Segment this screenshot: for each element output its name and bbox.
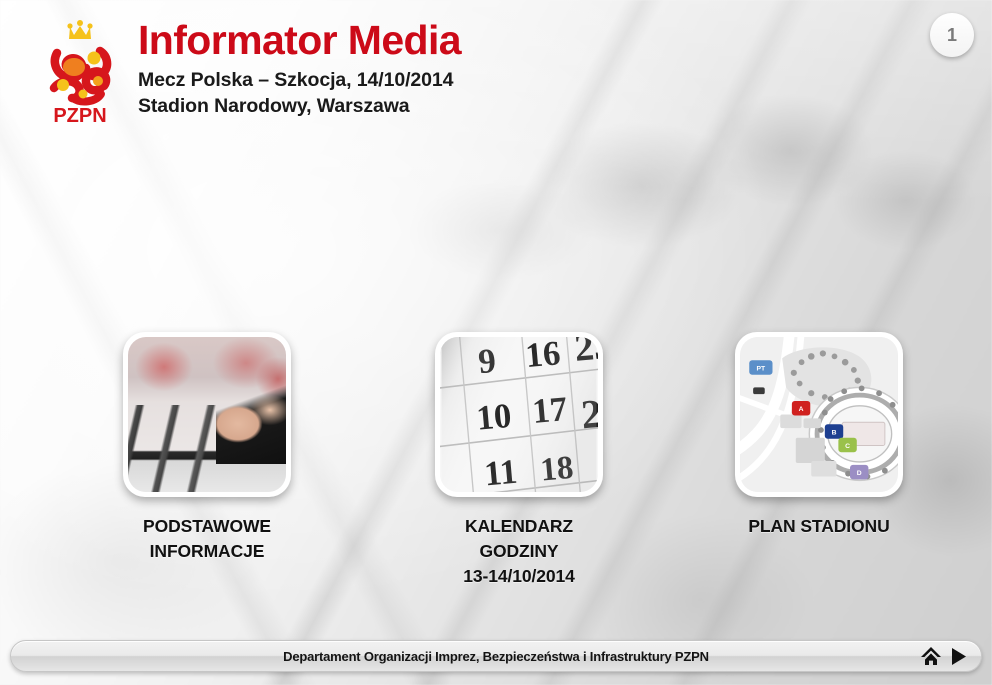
footer-bar: Departament Organizacji Imprez, Bezpiecz… <box>10 640 982 672</box>
svg-text:D: D <box>857 470 862 477</box>
tile-label-line1: PODSTAWOWE <box>118 514 296 539</box>
page-title: Informator Media <box>138 18 461 62</box>
page-number-badge: 1 <box>930 13 974 57</box>
press-journalists-laptops-thumbnail <box>128 337 286 492</box>
pzpn-eagle-logo-icon: PZPN <box>26 14 134 126</box>
tile-plan-stadionu[interactable]: PT A B C <box>730 332 908 539</box>
map-marker-d: D <box>850 465 868 480</box>
svg-text:PZPN: PZPN <box>53 105 106 126</box>
title-block: Informator Media Mecz Polska – Szkocja, … <box>138 18 461 120</box>
pzpn-logo: PZPN <box>26 14 134 126</box>
tile-label-line1: KALENDARZ <box>430 514 608 539</box>
footer-text: Departament Organizacji Imprez, Bezpiecz… <box>283 649 709 664</box>
stadium-map-icon: PT A B C <box>740 337 898 492</box>
tile-podstawowe-informacje[interactable]: PODSTAWOWE INFORMACJE <box>118 332 296 564</box>
tile-frame: 9 16 23 10 17 24 11 18 <box>435 332 603 497</box>
presentation-slide: PZPN Informator Media Mecz Polska – Szko… <box>0 0 992 685</box>
stadium-plan-thumbnail: PT A B C <box>740 337 898 492</box>
subtitle-match: Mecz Polska – Szkocja, 14/10/2014 <box>138 68 461 94</box>
tile-label: KALENDARZ GODZINY 13-14/10/2014 <box>430 514 608 589</box>
home-icon[interactable] <box>920 646 942 666</box>
map-marker-b: B <box>825 424 843 439</box>
tile-frame: PT A B C <box>735 332 903 497</box>
header: PZPN Informator Media Mecz Polska – Szko… <box>0 0 992 132</box>
tile-frame <box>123 332 291 497</box>
next-arrow-icon[interactable] <box>951 647 967 666</box>
tile-label: PODSTAWOWE INFORMACJE <box>118 514 296 564</box>
tile-label-line1: PLAN STADIONU <box>730 514 908 539</box>
map-marker-c: C <box>838 438 856 453</box>
tile-label: PLAN STADIONU <box>730 514 908 539</box>
tile-label-line2: INFORMACJE <box>118 539 296 564</box>
svg-text:A: A <box>799 406 804 413</box>
svg-text:B: B <box>832 429 837 436</box>
svg-text:PT: PT <box>757 365 767 372</box>
tile-kalendarz-godziny[interactable]: 9 16 23 10 17 24 11 18 <box>430 332 608 589</box>
subtitle-venue: Stadion Narodowy, Warszawa <box>138 94 461 120</box>
svg-text:C: C <box>845 443 850 450</box>
calendar-icon: 9 16 23 10 17 24 11 18 <box>440 337 598 492</box>
footer-navigation <box>920 641 967 671</box>
calendar-thumbnail: 9 16 23 10 17 24 11 18 <box>440 337 598 492</box>
map-marker-pt: PT <box>749 360 772 375</box>
tile-label-line3: 13-14/10/2014 <box>430 564 608 589</box>
tile-label-line2: GODZINY <box>430 539 608 564</box>
map-marker-a: A <box>792 401 810 416</box>
